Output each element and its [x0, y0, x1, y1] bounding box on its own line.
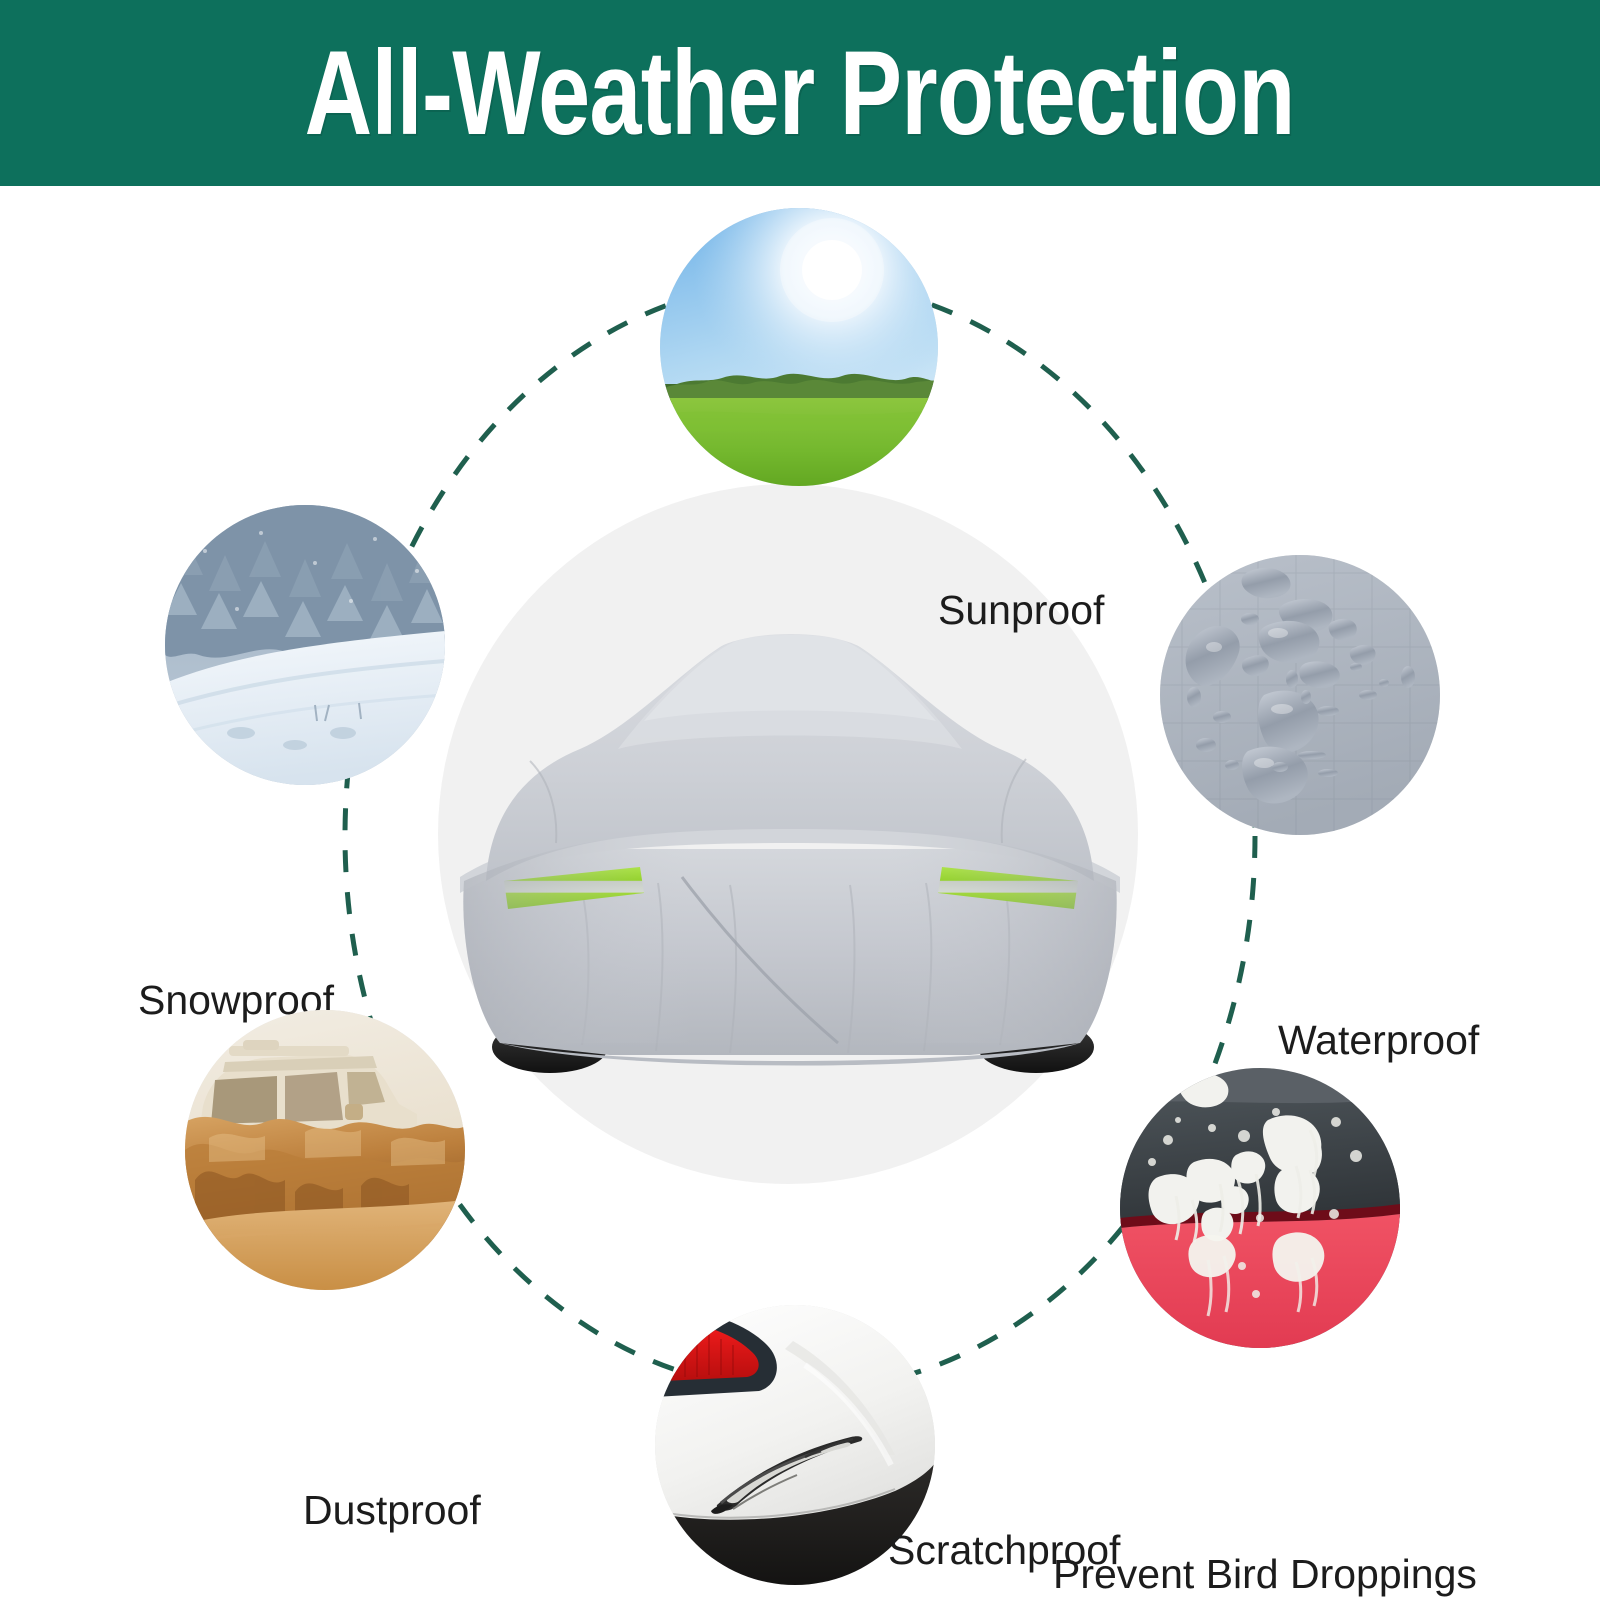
infographic-stage: Sunproof [0, 186, 1600, 1600]
header-banner: All-Weather Protection [0, 0, 1600, 186]
feature-image-sunproof [660, 208, 938, 486]
feature-image-waterproof [1160, 555, 1440, 835]
feature-image-bird-droppings [1120, 1068, 1400, 1348]
feature-label-dustproof: Dustproof [303, 1486, 481, 1534]
car-cover-image [430, 581, 1150, 1101]
feature-label-sunproof: Sunproof [938, 586, 1104, 634]
page-title: All-Weather Protection [305, 33, 1295, 153]
feature-image-snowproof [165, 505, 445, 785]
feature-label-scratchproof: Scratchproof [888, 1526, 1120, 1574]
cover-side-shading [463, 829, 1116, 1043]
cover-roof-highlight [644, 635, 936, 721]
feature-label-waterproof: Waterproof [1278, 1016, 1479, 1064]
feature-image-dustproof [185, 1010, 465, 1290]
